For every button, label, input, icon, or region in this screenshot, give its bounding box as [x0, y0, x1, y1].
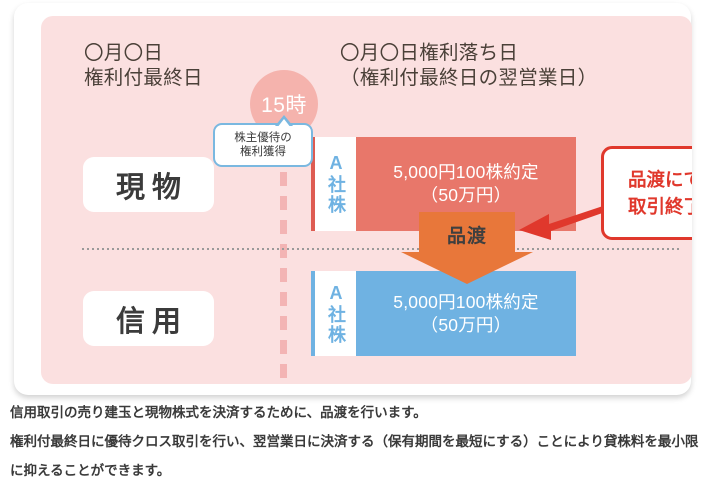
settlement-arrow-label: 品渡: [401, 221, 533, 248]
stock-name-box-margin: A社株: [311, 271, 356, 356]
caption-line-2: 権利付最終日に優待クロス取引を行い、翌営業日に決済する（保有期間を最短にする）こ…: [10, 427, 700, 485]
caption-line-1: 信用取引の売り建玉と現物株式を決済するために、品渡を行います。: [10, 398, 700, 427]
row-label-margin: 信用: [83, 291, 214, 346]
stock-name-box-spot: A社株: [311, 137, 356, 231]
callout-pointer-arrow-icon: [519, 194, 611, 242]
bubble-tail-inner-icon: [277, 119, 291, 128]
stock-name-vertical-margin: A社株: [325, 283, 346, 345]
row-divider: [82, 248, 682, 250]
caption-block: 信用取引の売り建玉と現物株式を決済するために、品渡を行います。 権利付最終日に優…: [10, 398, 700, 485]
diagram-panel: 〇月〇日 権利付最終日 〇月〇日権利落ち日 （権利付最終日の翌営業日） 15時 …: [41, 16, 692, 384]
header-right-date: 〇月〇日権利落ち日 （権利付最終日の翌営業日）: [340, 41, 597, 91]
diagram-card: 〇月〇日 権利付最終日 〇月〇日権利落ち日 （権利付最終日の翌営業日） 15時 …: [14, 3, 691, 395]
transaction-complete-callout: 品渡にて 取引終了: [601, 146, 692, 240]
header-left-date: 〇月〇日 権利付最終日: [84, 41, 203, 91]
stock-name-vertical-spot: A社株: [325, 153, 346, 215]
shareholder-benefit-callout: 株主優待の 権利獲得: [213, 123, 313, 167]
row-label-spot: 現物: [83, 157, 214, 212]
